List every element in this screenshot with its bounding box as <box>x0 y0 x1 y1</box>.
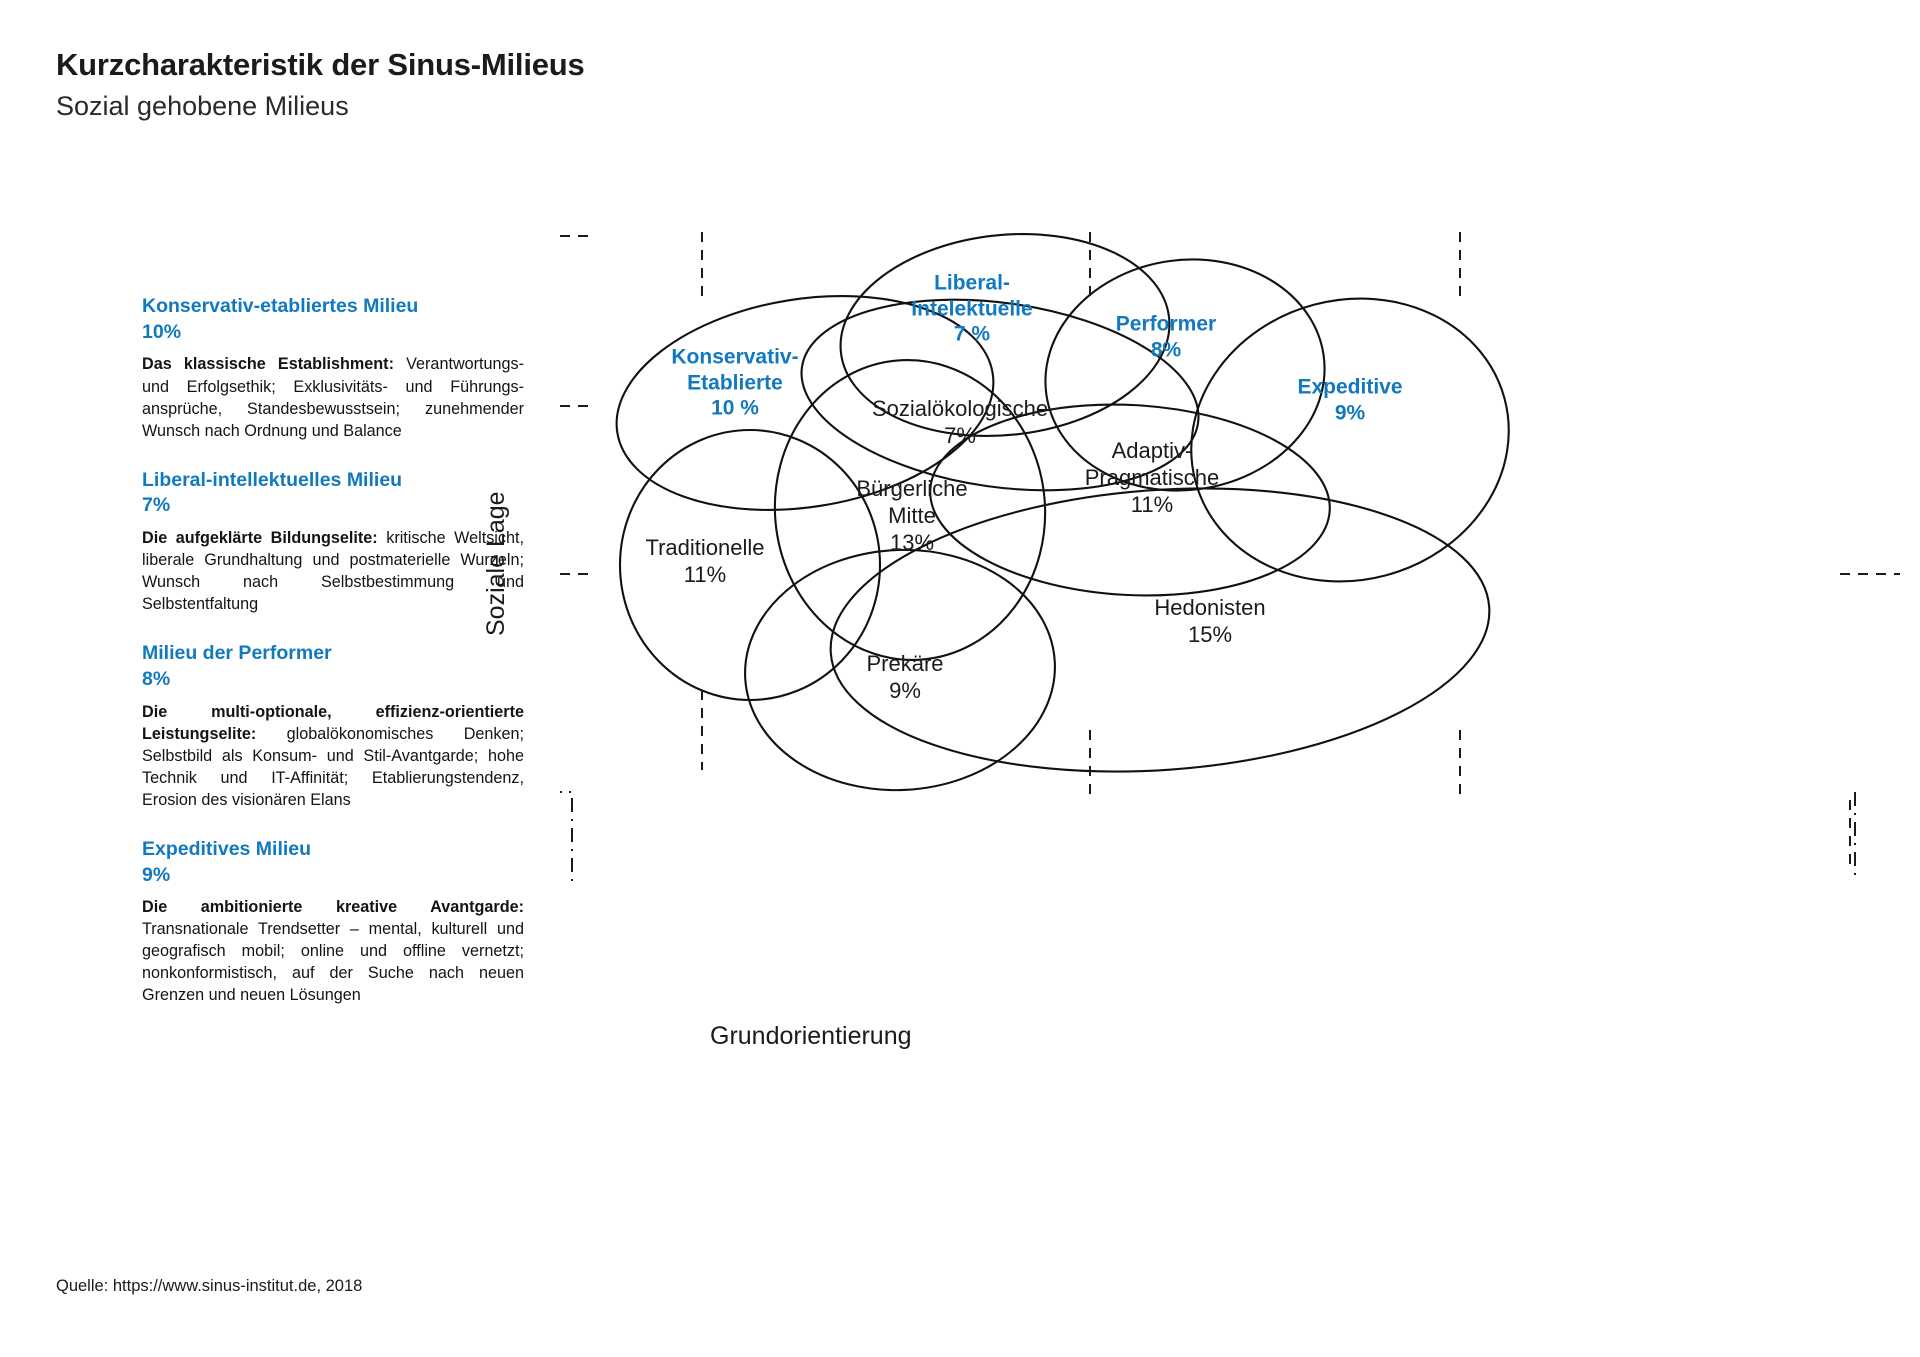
legend-item-konservativ-etabliert: Konservativ-etabliertes Milieu 10% Das k… <box>142 294 524 442</box>
page-title: Kurzcharakteristik der Sinus-Milieus <box>56 48 1256 82</box>
page-header: Kurzcharakteristik der Sinus-Milieus Soz… <box>56 48 1256 122</box>
legend-heading: Konservativ-etabliertes Milieu <box>142 294 524 320</box>
bubble-outline-liberal-intelektuelle <box>830 218 1179 451</box>
page-subtitle: Sozial gehobene Milieus <box>56 92 1256 122</box>
bubble-outline-adaptiv-pragmatische <box>925 395 1334 606</box>
bubble-outline-prekaere <box>739 542 1061 798</box>
bubble-outline-traditionelle <box>620 430 880 700</box>
legend-description: Die aufgeklärte Bildungselite: kritische… <box>142 527 524 615</box>
legend-percent: 9% <box>142 863 524 889</box>
legend-item-performer: Milieu der Performer 8% Die multi-option… <box>142 641 524 811</box>
axis-frame-bottom-left <box>560 792 572 882</box>
axis-label-soziale-lage: Soziale Lage <box>482 491 511 636</box>
legend-percent: 8% <box>142 667 524 693</box>
legend-item-expeditiv: Expeditives Milieu 9% Die ambitionierte … <box>142 837 524 1007</box>
bubble-outline-expeditive <box>1159 263 1541 616</box>
legend-heading: Expeditives Milieu <box>142 837 524 863</box>
legend-body-text: Transnationale Trendsetter – mental, kul… <box>142 920 524 1004</box>
bubble-outline-buergerliche-mitte <box>762 349 1057 671</box>
bubble-outline-konservativ-etablierte <box>601 271 1009 536</box>
legend-item-liberal-intellektuell: Liberal-intellektuelles Milieu 7% Die au… <box>142 468 524 616</box>
legend-lead: Die ambitionierte kreative Avantgarde: <box>142 898 524 916</box>
legend-description: Das klassische Establishment: Verantwort… <box>142 353 524 441</box>
legend-lead: Die aufgeklärte Bildungselite: <box>142 529 378 547</box>
legend-heading: Milieu der Performer <box>142 641 524 667</box>
axis-label-grundorientierung: Grundorientierung <box>710 1022 912 1051</box>
bubble-outline-performer <box>1030 242 1339 509</box>
legend-percent: 10% <box>142 320 524 346</box>
source-note: Quelle: https://www.sinus-institut.de, 2… <box>56 1277 362 1296</box>
legend-percent: 7% <box>142 493 524 519</box>
bubble-outline-sozialoekologische <box>789 276 1211 514</box>
bubble-outlines-svg <box>560 210 1900 1110</box>
sinus-milieus-bubble-diagram: Konservativ- Etablierte 10 % Liberal- In… <box>560 210 1900 1110</box>
milieu-legend-list: Konservativ-etabliertes Milieu 10% Das k… <box>142 294 524 1006</box>
bubble-outline-hedonisten <box>821 467 1499 792</box>
legend-description: Die ambitionierte kreative Avantgarde: T… <box>142 896 524 1006</box>
legend-description: Die multi-optionale, effizienz-orientier… <box>142 701 524 811</box>
legend-heading: Liberal-intellektuelles Milieu <box>142 468 524 494</box>
legend-lead: Das klassische Establishment: <box>142 355 394 373</box>
